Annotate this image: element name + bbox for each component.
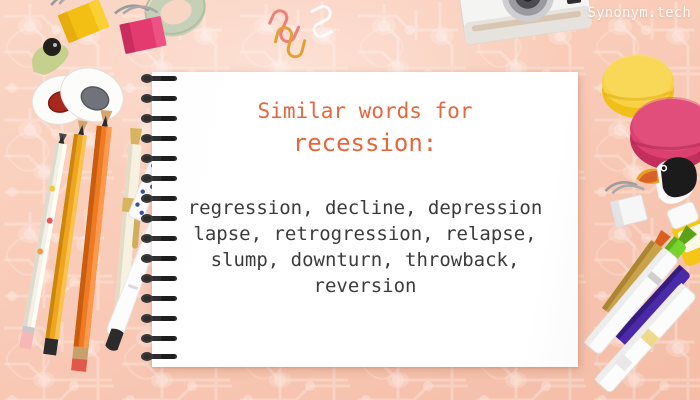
note-title-prefix: Similar words for [258, 96, 473, 126]
camera [452, 0, 602, 56]
marker-white-2 [566, 276, 700, 400]
binder-clip-pink [106, 4, 180, 66]
synonym-line: reversion [188, 273, 543, 299]
synonym-line: slump, downturn, throwback, [188, 247, 543, 273]
synonym-list: regression, decline, depression lapse, r… [188, 195, 543, 299]
note-text-block: Similar words for recession: regression,… [152, 72, 578, 367]
synonym-line: regression, decline, depression [188, 195, 543, 221]
site-watermark: Synonym.tech [587, 5, 691, 21]
note-query-word: recession: [293, 126, 438, 160]
synonym-line: lapse, retrogression, relapse, [188, 221, 543, 247]
paper-clip-gold [268, 24, 318, 60]
